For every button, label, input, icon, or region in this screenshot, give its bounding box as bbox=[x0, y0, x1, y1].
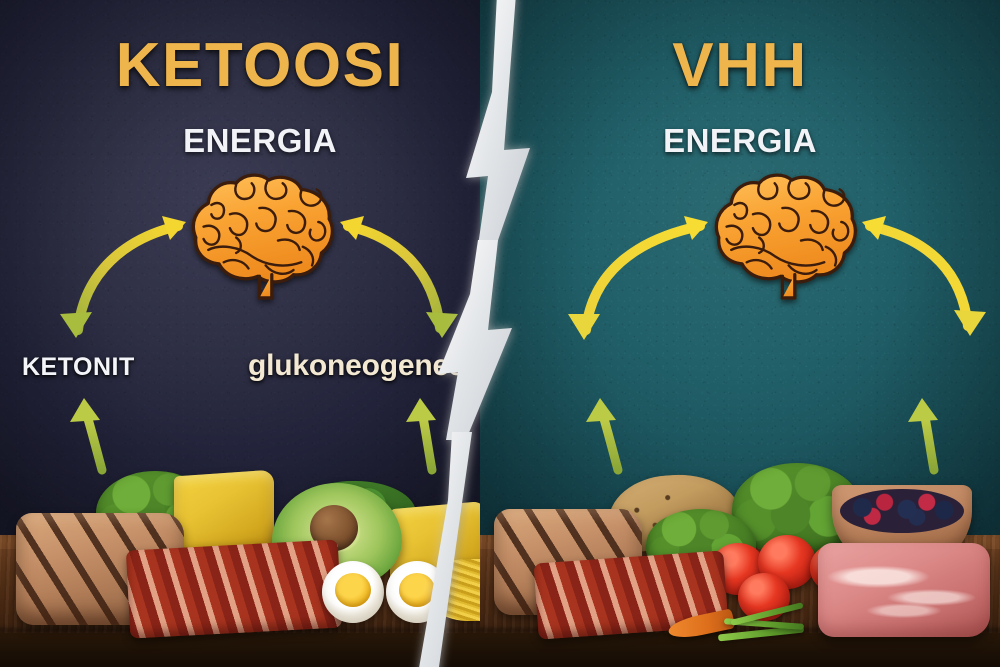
left-bacon-strips bbox=[126, 540, 342, 639]
left-egg-yolk-1 bbox=[335, 573, 371, 607]
left-table-surface bbox=[0, 633, 520, 667]
left-panel-ketoosi: KETOOSI ENERGIA KETONIT glukoneogenesi bbox=[0, 0, 520, 667]
infographic-canvas: KETOOSI ENERGIA KETONIT glukoneogenesi bbox=[0, 0, 1000, 667]
right-raw-beef bbox=[818, 543, 990, 637]
right-berries bbox=[840, 489, 963, 533]
left-energia-label: ENERGIA bbox=[0, 122, 520, 160]
right-title: VHH bbox=[480, 30, 1000, 101]
node-ketonit: KETONIT bbox=[22, 354, 135, 380]
left-title: KETOOSI bbox=[0, 30, 520, 101]
left-food-plate bbox=[0, 417, 520, 667]
node-gluconeogenesis: glukoneogenesi bbox=[248, 350, 474, 382]
left-boiled-egg-1 bbox=[322, 561, 384, 623]
left-egg-yolk-2 bbox=[399, 573, 435, 607]
left-boiled-egg-2 bbox=[386, 561, 448, 623]
right-food-plate bbox=[480, 417, 1000, 667]
right-panel-vhh: VHH ENERGIA GLUKOOŠI vähem bbox=[480, 0, 1000, 667]
right-energia-label: ENERGIA bbox=[480, 122, 1000, 160]
